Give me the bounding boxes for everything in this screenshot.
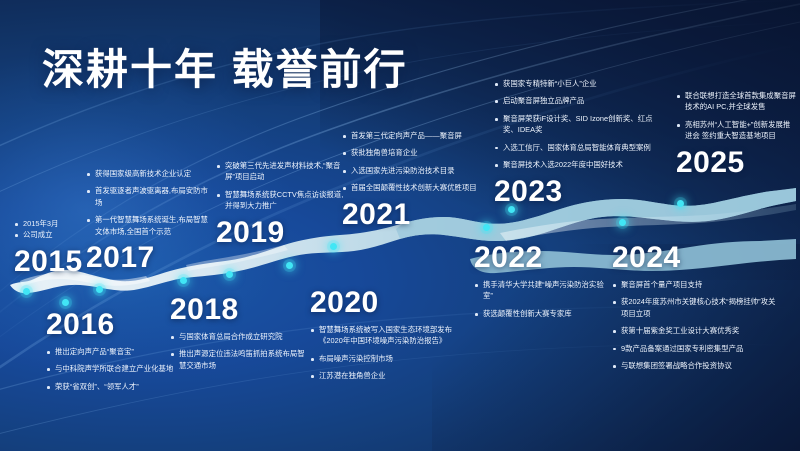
list-item: 聚音屏荣获iF设计奖、SID Izone创新奖、红点奖、IDEA奖 [494, 113, 660, 136]
timeline-entry-2025[interactable]: 联合联想打造全球首款集成聚音屏技术的AI PC,并全球发售 亮相苏州“人工智能+… [676, 90, 796, 178]
list-item: 入选国家先进污染防治技术目录 [342, 165, 494, 176]
timeline-entry-2018[interactable]: 2018 与国家体育总局合作成立研究院 推出声源定位违法鸣笛抓拍系统布局智慧交通… [170, 295, 308, 377]
timeline-node-2025 [677, 200, 684, 207]
timeline-node-2015 [23, 288, 30, 295]
list-item: 智慧舞场系统被写入国家生态环境部发布《2020年中国环境噪声污染防治报告》 [310, 324, 458, 347]
list-item: 突破第三代先进发声材料技术,“聚音屏”项目启动 [216, 160, 350, 183]
year-label-2023: 2023 [494, 177, 660, 207]
year-label-2021: 2021 [342, 200, 494, 230]
list-item: 荣获“省双创”、“领军人才” [46, 381, 174, 392]
list-item: 布局噪声污染控制市场 [310, 353, 458, 364]
timeline-node-2016 [62, 299, 69, 306]
timeline-node-2024 [619, 219, 626, 226]
timeline-node-2017 [96, 286, 103, 293]
year-label-2019: 2019 [216, 218, 350, 248]
year-label-2017: 2017 [86, 243, 214, 273]
timeline-items-2016: 推出定向声产品“聚音宝” 与中科院声学所联合建立产业化基地 荣获“省双创”、“领… [46, 346, 174, 392]
list-item: 智慧舞场系统获CCTV焦点访谈报道,并得到大力推广 [216, 189, 350, 212]
list-item: 9款产品备案通过国家专利密集型产品 [612, 343, 778, 354]
timeline-items-2021: 首发第三代定向声产品——聚音屏 获批独角兽培育企业 入选国家先进污染防治技术目录… [342, 130, 494, 194]
timeline-entry-2021[interactable]: 首发第三代定向声产品——聚音屏 获批独角兽培育企业 入选国家先进污染防治技术目录… [342, 130, 494, 230]
timeline-items-2018: 与国家体育总局合作成立研究院 推出声源定位违法鸣笛抓拍系统布局智慧交通市场 [170, 331, 308, 371]
timeline-node-2018 [180, 277, 187, 284]
timeline-entry-2015[interactable]: 2015年3月 公司成立 2015 [14, 218, 84, 277]
list-item: 启动聚音屏独立品牌产品 [494, 95, 660, 106]
list-item: 获批独角兽培育企业 [342, 147, 494, 158]
list-item: 聚音屏首个量产项目支持 [612, 279, 778, 290]
list-item: 与联想集团签署战略合作投资协议 [612, 360, 778, 371]
year-label-2020: 2020 [310, 288, 458, 318]
list-item: 与中科院声学所联合建立产业化基地 [46, 363, 174, 374]
year-label-2015: 2015 [14, 247, 84, 277]
list-item: 获国家专精特新“小巨人”企业 [494, 78, 660, 89]
timeline-entry-2020[interactable]: 2020 智慧舞场系统被写入国家生态环境部发布《2020年中国环境噪声污染防治报… [310, 288, 458, 388]
year-label-2022: 2022 [474, 243, 612, 273]
list-item: 获得国家级高新技术企业认定 [86, 168, 214, 179]
timeline-entry-2023[interactable]: 获国家专精特新“小巨人”企业 启动聚音屏独立品牌产品 聚音屏荣获iF设计奖、SI… [494, 78, 660, 207]
list-item: 携手清华大学共建“噪声污染防治实验室” [474, 279, 612, 302]
list-item: 联合联想打造全球首款集成聚音屏技术的AI PC,并全球发售 [676, 90, 796, 113]
list-item: 推出定向声产品“聚音宝” [46, 346, 174, 357]
list-item: 首发驱逐者声波驱离器,布局安防市场 [86, 185, 214, 208]
timeline-items-2015: 2015年3月 公司成立 [14, 218, 84, 241]
list-item: 获选颠覆性创新大赛专家库 [474, 308, 612, 319]
year-label-2025: 2025 [676, 148, 796, 178]
list-item: 推出声源定位违法鸣笛抓拍系统布局智慧交通市场 [170, 348, 308, 371]
timeline-items-2023: 获国家专精特新“小巨人”企业 启动聚音屏独立品牌产品 聚音屏荣获iF设计奖、SI… [494, 78, 660, 171]
timeline-entry-2016[interactable]: 2016 推出定向声产品“聚音宝” 与中科院声学所联合建立产业化基地 荣获“省双… [46, 310, 174, 398]
year-label-2024: 2024 [612, 243, 778, 273]
page-title: 深耕十年 载誉前行 [42, 36, 408, 97]
year-label-2016: 2016 [46, 310, 174, 340]
timeline-entry-2022[interactable]: 2022 携手清华大学共建“噪声污染防治实验室” 获选颠覆性创新大赛专家库 [474, 243, 612, 325]
list-item: 亮相苏州“人工智能+”创新发展推进会 签约重大智造基地项目 [676, 119, 796, 142]
list-item: 聚音屏技术入选2022年度中国好技术 [494, 159, 660, 170]
list-item: 第一代智慧舞场系统诞生,布局智慧文体市场,全国首个示范 [86, 214, 214, 237]
list-item: 获2024年度苏州市关键核心技术“揭榜挂帅”攻关项目立项 [612, 296, 778, 319]
year-label-2018: 2018 [170, 295, 308, 325]
timeline-node-2020 [286, 262, 293, 269]
list-item: 与国家体育总局合作成立研究院 [170, 331, 308, 342]
timeline-items-2017: 获得国家级高新技术企业认定 首发驱逐者声波驱离器,布局安防市场 第一代智慧舞场系… [86, 168, 214, 237]
timeline-node-2019 [226, 271, 233, 278]
list-item: 首届全国颠覆性技术创新大赛优胜项目 [342, 182, 494, 193]
timeline-items-2022: 携手清华大学共建“噪声污染防治实验室” 获选颠覆性创新大赛专家库 [474, 279, 612, 319]
timeline-items-2019: 突破第三代先进发声材料技术,“聚音屏”项目启动 智慧舞场系统获CCTV焦点访谈报… [216, 160, 350, 212]
list-item: 江苏潜在独角兽企业 [310, 370, 458, 381]
list-item: 首发第三代定向声产品——聚音屏 [342, 130, 494, 141]
list-item: 2015年3月 [14, 218, 84, 229]
timeline-entry-2024[interactable]: 2024 聚音屏首个量产项目支持 获2024年度苏州市关键核心技术“揭榜挂帅”攻… [612, 243, 778, 378]
list-item: 入选工信厅、国家体育总局智能体育典型案例 [494, 142, 660, 153]
timeline-items-2020: 智慧舞场系统被写入国家生态环境部发布《2020年中国环境噪声污染防治报告》 布局… [310, 324, 458, 382]
list-item: 公司成立 [14, 229, 84, 240]
list-item: 获第十届紫金奖工业设计大赛优秀奖 [612, 325, 778, 336]
timeline-entry-2017[interactable]: 获得国家级高新技术企业认定 首发驱逐者声波驱离器,布局安防市场 第一代智慧舞场系… [86, 168, 214, 273]
timeline-items-2024: 聚音屏首个量产项目支持 获2024年度苏州市关键核心技术“揭榜挂帅”攻关项目立项… [612, 279, 778, 372]
infographic-slide: 深耕十年 载誉前行 [0, 0, 800, 451]
timeline-entry-2019[interactable]: 突破第三代先进发声材料技术,“聚音屏”项目启动 智慧舞场系统获CCTV焦点访谈报… [216, 160, 350, 248]
timeline-items-2025: 联合联想打造全球首款集成聚音屏技术的AI PC,并全球发售 亮相苏州“人工智能+… [676, 90, 796, 142]
